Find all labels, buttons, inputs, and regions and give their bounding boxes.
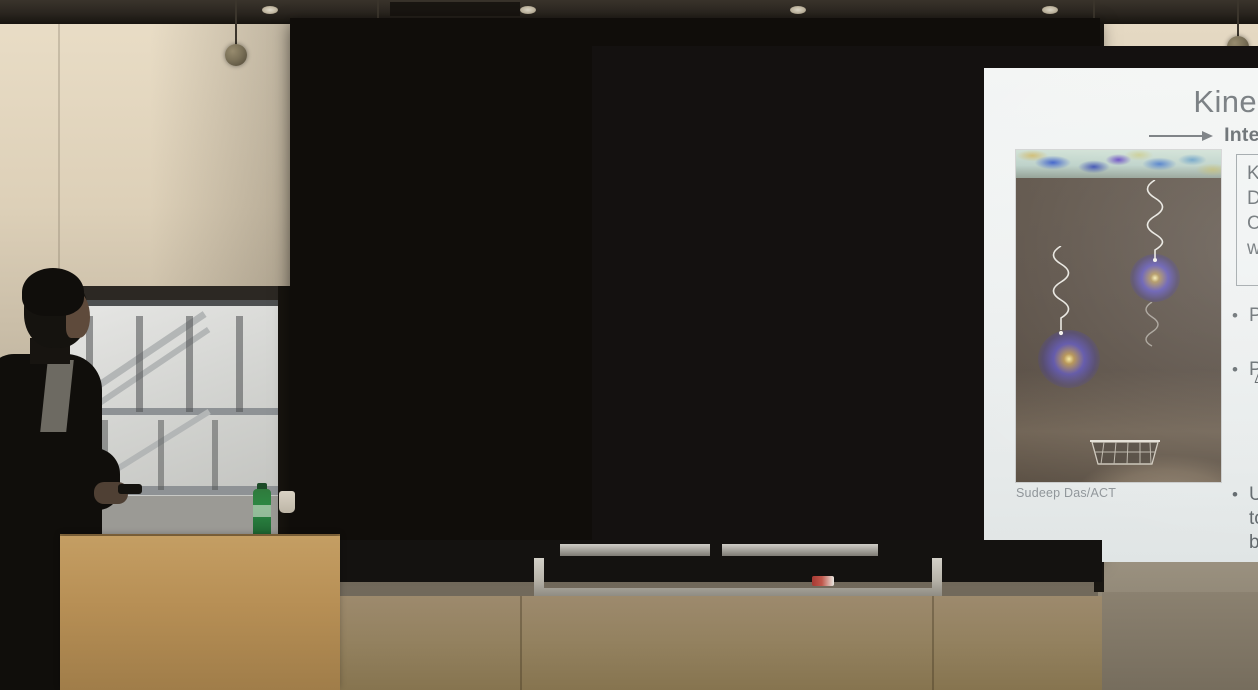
definition-line: Compton-scattering off free electrons [1247,212,1258,237]
definition-line: with non-zero line-of-sight velocity [1247,237,1258,262]
ceiling-downlight [1042,6,1058,14]
presentation-clicker [118,484,142,494]
whiteboard-tray-slot [722,544,878,556]
slide-subtitle: Integrated Electron Momentum [1224,124,1258,147]
window-frame-bar [236,316,243,412]
delta-T: ΔT [1254,367,1258,388]
definition-line: Kinematic Sunyaev-Zel'dovich Effect: [1247,162,1258,187]
bottle-label [253,505,271,517]
pendant-bulb [225,44,247,66]
ceiling-downlight [262,6,278,14]
cabinet-seam [932,596,934,690]
right-arrow-icon [1149,130,1215,142]
equation-row: ΔTkSZ(n̂) TCMB = − 1 c ∫ ηre 0 [1250,368,1258,417]
bullet-marker: • [1232,358,1238,381]
marker-on-tray [812,576,834,586]
cup [279,491,295,513]
ceiling-vent [390,2,520,16]
photon-wave-icon [1142,180,1168,264]
photon-wave-icon [1140,302,1164,350]
projection-screen: Kinematic SZ Effect Colin Hill IAS/CCA I… [290,18,1100,556]
definition-box: Kinematic Sunyaev-Zel'dovich Effect: Dop… [1236,154,1258,286]
wall-cabinet [300,596,1102,690]
list-item: • Unbiased tracer of free electrons — a … [1232,483,1258,556]
ksz-illustration [1016,150,1221,482]
pendant-cord [235,0,237,50]
presenter-hair [22,268,84,316]
window-frame-bar [212,420,218,490]
bullet-marker: • [1232,483,1238,506]
telescope-icon [1088,434,1162,466]
definition-line: Doppler boosting of CMB photons [1247,187,1258,212]
screenshot-root: Kinematic SZ Effect Colin Hill IAS/CCA I… [0,0,1258,690]
floor-strip [1102,592,1258,690]
window-frame-bar [158,420,164,490]
cmb-map-strip [1016,150,1221,178]
bullet-text: Unbiased tracer of free electrons — a pr… [1249,483,1258,556]
list-item: • Preserves blackbody CMB spectrum [1232,304,1258,328]
bullet-marker: • [1232,304,1238,327]
slide-subtitle-row: Integrated Electron Momentum [984,124,1258,147]
window-frame-bar [136,316,143,412]
photon-wave-icon [1048,246,1074,338]
ksz-equation: ΔTkSZ(n̂) TCMB = − 1 c ∫ ηre 0 [1250,368,1258,448]
slide-number: 12 [984,486,1258,500]
ceiling-downlight [520,6,536,14]
equation-numerator: ΔTkSZ(n̂) [1250,368,1258,392]
whiteboard-tray-slot [560,544,710,556]
temperature-ratio: ΔTkSZ(n̂) TCMB [1250,368,1258,417]
cabinet-seam [520,596,522,690]
ceiling-downlight [790,6,806,14]
wooden-podium [60,536,340,690]
page-title: Kinematic SZ Effect [984,84,1258,120]
window-frame-bar [186,316,193,412]
bullet-text: Preserves blackbody CMB spectrum [1249,304,1258,328]
screen-surface: Kinematic SZ Effect Colin Hill IAS/CCA I… [592,46,1258,562]
presentation-slide: Kinematic SZ Effect Colin Hill IAS/CCA I… [984,68,1258,562]
